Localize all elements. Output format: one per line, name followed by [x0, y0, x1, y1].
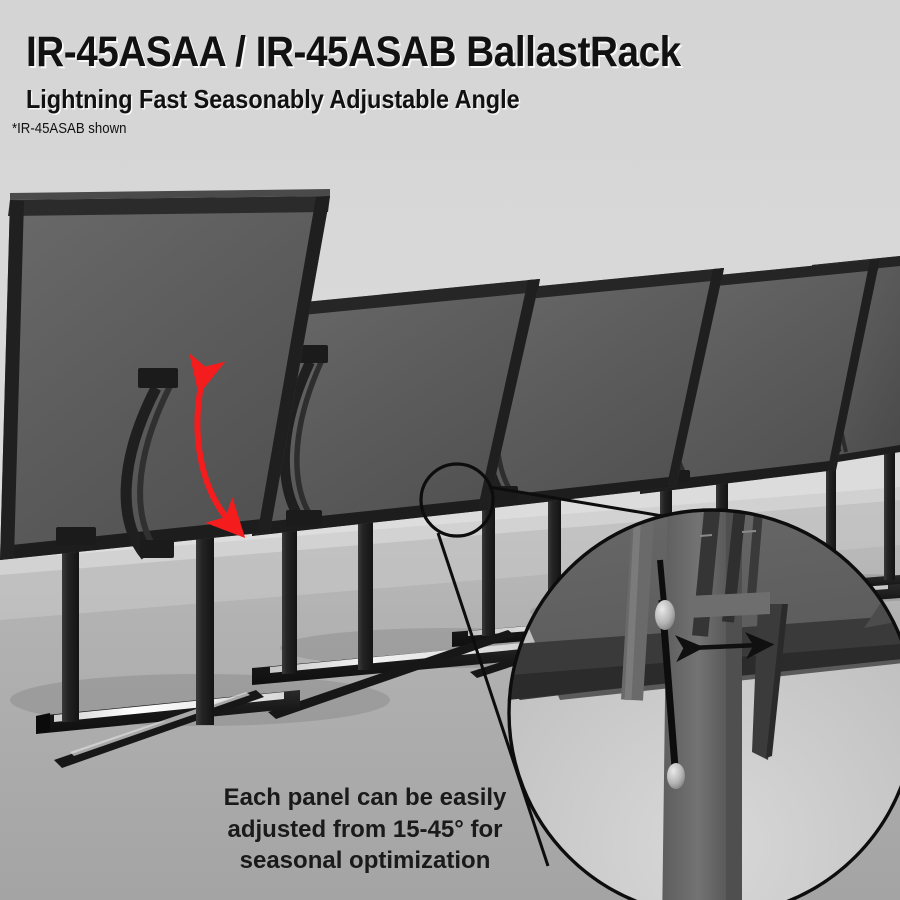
page-subtitle: Lightning Fast Seasonably Adjustable Ang…: [26, 84, 520, 115]
hinge-bracket-1-top: [138, 368, 178, 388]
caption-line-3: seasonal optimization: [170, 845, 560, 877]
page-title: IR-45ASAA / IR-45ASAB BallastRack: [26, 28, 681, 77]
product-graphic-page: IR-45ASAA / IR-45ASAB BallastRack Lightn…: [0, 0, 900, 900]
zoom-tick-1: [700, 535, 712, 536]
post-5-front: [884, 444, 895, 580]
model-footnote: *IR-45ASAB shown: [12, 120, 126, 137]
zoom-pin-rod-upper: [660, 560, 664, 604]
post-1-rear: [62, 540, 79, 722]
zoom-adjuster-plate: [688, 592, 770, 618]
post-2-rear: [282, 508, 297, 674]
header-block: IR-45ASAA / IR-45ASAB BallastRack Lightn…: [0, 0, 900, 155]
hinge-bracket-1-mid: [140, 540, 174, 558]
post-1-front: [196, 527, 214, 725]
zoom-bolt-upper: [655, 600, 675, 630]
ballast-endcap-1: [36, 713, 50, 734]
zoom-bolt-lower: [667, 763, 685, 789]
hinge-bracket-1-bot: [56, 527, 96, 545]
hinge-bracket-2-bot: [286, 510, 322, 526]
black-width-dimension-arrow: [690, 645, 760, 648]
caption-line-1: Each panel can be easily: [170, 782, 560, 814]
adjustment-caption: Each panel can be easily adjusted from 1…: [170, 782, 560, 877]
zoom-tick-2: [742, 531, 756, 532]
caption-line-2: adjusted from 15-45° for: [170, 814, 560, 846]
